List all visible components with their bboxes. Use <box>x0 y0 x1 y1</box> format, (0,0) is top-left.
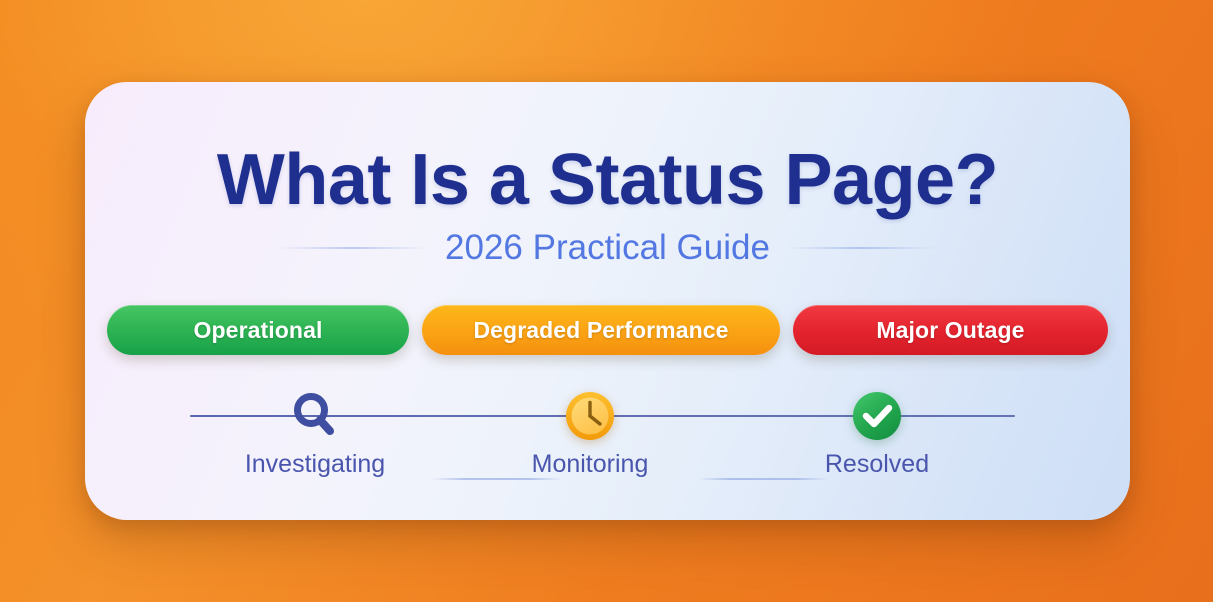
timeline-label-connector-2 <box>698 478 828 480</box>
subtitle-row: 2026 Practical Guide <box>85 230 1130 265</box>
timeline-stage-label-resolved: Resolved <box>825 452 929 477</box>
subtitle-rule-right <box>788 247 936 249</box>
timeline-stage-monitoring[interactable]: Monitoring <box>530 387 650 477</box>
check-circle-icon <box>848 387 906 445</box>
timeline-stage-investigating[interactable]: Investigating <box>255 387 375 477</box>
status-badge-major-outage[interactable]: Major Outage <box>793 305 1108 355</box>
timeline-stage-label-investigating: Investigating <box>245 452 385 477</box>
timeline-stage-label-monitoring: Monitoring <box>532 452 649 477</box>
timeline-label-connector-1 <box>432 478 562 480</box>
status-badge-degraded-performance[interactable]: Degraded Performance <box>422 305 780 355</box>
poster-background: What Is a Status Page? 2026 Practical Gu… <box>0 0 1213 602</box>
page-subtitle: 2026 Practical Guide <box>445 230 770 265</box>
status-pill-row: Operational Degraded Performance Major O… <box>85 305 1130 355</box>
incident-timeline: Investigating <box>190 387 1015 497</box>
status-badge-operational[interactable]: Operational <box>107 305 409 355</box>
magnifying-glass-icon <box>286 387 344 445</box>
status-page-card: What Is a Status Page? 2026 Practical Gu… <box>85 82 1130 520</box>
timeline-stage-resolved[interactable]: Resolved <box>817 387 937 477</box>
clock-icon <box>561 387 619 445</box>
subtitle-rule-left <box>279 247 427 249</box>
page-title: What Is a Status Page? <box>85 144 1130 216</box>
